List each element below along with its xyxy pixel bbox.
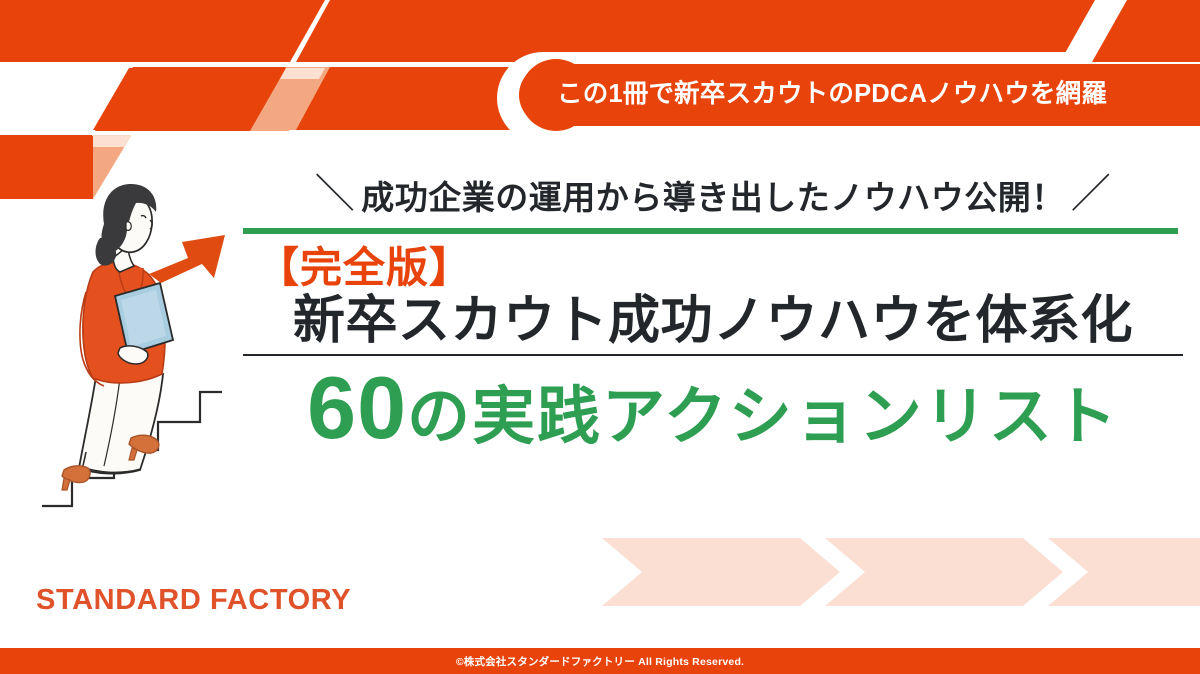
headline-line-3-rest: の実践アクションリスト <box>407 386 1119 449</box>
head <box>108 196 152 252</box>
ribbon-2-accent-hl <box>280 68 325 79</box>
ribbon-band-top <box>0 0 1200 62</box>
shoe-front <box>129 435 159 453</box>
headline-eyebrow: 【完全版】 <box>243 246 1183 290</box>
ribbon-row3-accent <box>92 135 131 198</box>
brand-logo-text: STANDARD FACTORY <box>36 584 351 617</box>
skirt-fold <box>104 378 120 466</box>
jacket-arm <box>80 292 104 386</box>
jacket-lapel <box>118 266 143 302</box>
ribbon-3 <box>0 136 93 199</box>
ribbon-1 <box>0 0 1200 62</box>
shoe-front-heel <box>129 448 137 460</box>
lead-line: ＼ 成功企業の運用から導き出したノウハウ公開！ ／ <box>243 168 1183 222</box>
copy-block: ＼ 成功企業の運用から導き出したノウハウ公開！ ／ 【完全版】 新卒スカウト成功… <box>243 168 1183 452</box>
ribbon-middle-left <box>98 67 330 130</box>
eye <box>141 216 146 218</box>
ribbon-3-accent <box>93 136 131 199</box>
ribbon-top-fill <box>0 0 1200 62</box>
green-rule <box>243 228 1178 234</box>
laptop <box>115 283 173 354</box>
ribbon-2 <box>95 68 322 131</box>
ribbon-2-accent <box>250 68 325 131</box>
slash-right-icon: ／ <box>1071 174 1112 214</box>
badge-text: この1冊で新卒スカウトのPDCAノウハウを網羅 <box>557 82 1107 108</box>
slash-left-icon: ＼ <box>315 174 356 214</box>
ribbon-top <box>0 0 1200 62</box>
ribbon-row2-accent-top <box>277 68 322 78</box>
chevron-3 <box>1048 538 1200 606</box>
ribbon-middle-accent <box>252 67 330 130</box>
lead-text: 成功企業の運用から導き出したノウハウ公開！ <box>361 171 1065 219</box>
skirt <box>79 370 163 474</box>
ear <box>126 222 131 231</box>
hair <box>101 184 156 252</box>
orange-up-right-arrow <box>149 235 225 283</box>
ribbon-row2-accent <box>248 68 322 130</box>
headline-number: 60 <box>307 364 407 452</box>
chevron-2 <box>825 538 1063 606</box>
headline-line-2: 新卒スカウト成功ノウハウを体系化 <box>243 292 1183 356</box>
shoe-back <box>62 466 90 483</box>
leg-back <box>80 452 86 476</box>
hero-slide: この1冊で新卒スカウトのPDCAノウハウを網羅 ＼ 成功企業の運用から導き出した… <box>0 0 1200 674</box>
hair-bun <box>96 238 117 266</box>
skirt-hem <box>79 466 141 472</box>
hand <box>118 346 148 364</box>
nose <box>150 220 152 229</box>
shoe-back-heel <box>62 478 70 490</box>
badge-pill: この1冊で新卒スカウトのPDCAノウハウを網羅 <box>519 64 1200 126</box>
ribbon-row2 <box>93 68 318 130</box>
footer-bar: ©株式会社スタンダードファクトリー All Rights Reserved. <box>0 648 1200 674</box>
ribbon-row3-accent-top <box>92 135 131 145</box>
headline-line-3: 60 の実践アクションリスト <box>243 364 1183 452</box>
jacket <box>83 262 165 383</box>
stairs-icon <box>42 392 222 506</box>
ribbon-row3 <box>0 135 92 198</box>
chevron-1 <box>602 538 840 606</box>
copyright-text: ©株式会社スタンダードファクトリー All Rights Reserved. <box>456 654 744 669</box>
neck <box>113 246 134 272</box>
ribbon-3-accent-hl <box>93 136 131 147</box>
laptop-inner <box>121 290 166 347</box>
